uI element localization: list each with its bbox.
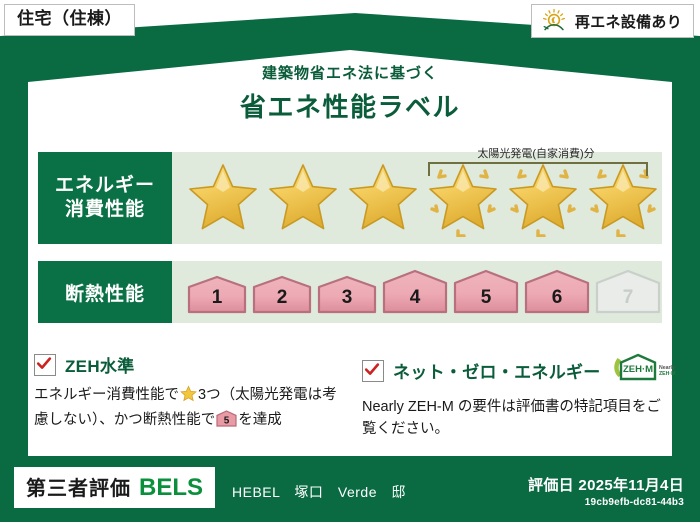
net-zero-title: ネット・ゼロ・エネルギー — [393, 358, 601, 383]
insulation-grade-2: 2 — [251, 275, 313, 315]
property-name: HEBEL 塚口 Verde 邸 — [232, 482, 406, 502]
title-block: 建築物省エネ法に基づく 省エネ性能ラベル — [0, 62, 700, 124]
insulation-row-label: 断熱性能 — [38, 261, 172, 323]
svg-text:5: 5 — [224, 416, 230, 427]
check-icon — [36, 356, 52, 372]
grade-number: 1 — [186, 287, 248, 309]
grade-number: 3 — [316, 287, 378, 309]
energy-label-line1: エネルギー — [55, 174, 155, 198]
bels-badge: 第三者評価 BELS — [14, 467, 215, 508]
zeh-desc-part3: を達成 — [238, 412, 282, 428]
grade-number: 2 — [251, 287, 313, 309]
dwelling-type-tag: 住宅（住棟） — [4, 4, 135, 36]
renewable-badge-label: 再エネ設備あり — [575, 11, 682, 32]
criteria-sections: ZEH水準 エネルギー消費性能で3つ（太陽光発電は考慮しない）、かつ断熱性能で5… — [34, 352, 670, 441]
insulation-performance-row: 断熱性能 1234567 — [38, 261, 662, 323]
evaluation-info: 評価日 2025年11月4日 19cb9efb-dc81-44b3 — [528, 474, 684, 508]
evaluation-id: 19cb9efb-dc81-44b3 — [528, 497, 684, 508]
criteria-net-zero-energy: ネット・ゼロ・エネルギー ZEH·M Nearly ZEH·M Nearly Z… — [362, 352, 668, 441]
zeh-standard-description: エネルギー消費性能で3つ（太陽光発電は考慮しない）、かつ断熱性能で5を達成 — [34, 384, 340, 435]
zeh-standard-checkbox[interactable] — [34, 354, 56, 376]
renewable-equipment-badge: 再エネ設備あり — [531, 4, 694, 38]
zeh-standard-header: ZEH水準 — [34, 352, 340, 377]
solar-annotation-label: 太陽光発電(自家消費)分 — [420, 145, 652, 161]
svg-text:ZEH·M: ZEH·M — [659, 371, 675, 377]
grade-number: 4 — [381, 287, 449, 309]
insulation-grade-3: 3 — [316, 275, 378, 315]
solar-annotation-bracket — [428, 162, 648, 176]
zeh-standard-title: ZEH水準 — [65, 352, 135, 377]
star-icon — [264, 159, 342, 237]
criteria-zeh-standard: ZEH水準 エネルギー消費性能で3つ（太陽光発電は考慮しない）、かつ断熱性能で5… — [34, 352, 340, 441]
check-icon — [364, 362, 380, 378]
title-subtitle: 建築物省エネ法に基づく — [0, 62, 700, 83]
net-zero-header: ネット・ゼロ・エネルギー ZEH·M Nearly ZEH·M — [362, 352, 668, 389]
star-icon — [344, 159, 422, 237]
zeh-desc-part1: エネルギー消費性能で — [34, 387, 179, 403]
sun-icon — [540, 8, 568, 34]
energy-label-line2: 消費性能 — [65, 198, 145, 222]
insulation-grade-6: 6 — [523, 269, 591, 315]
net-zero-checkbox[interactable] — [362, 360, 384, 382]
energy-row-label: エネルギー 消費性能 — [38, 152, 172, 244]
bels-jp-label: 第三者評価 — [26, 472, 131, 501]
insulation-grade-scale: 1234567 — [172, 269, 662, 315]
insulation-grade-7: 7 — [594, 269, 662, 315]
grade-number: 5 — [452, 287, 520, 309]
evaluation-date-label: 評価日 — [528, 477, 574, 494]
insulation-grade-1: 1 — [186, 275, 248, 315]
energy-performance-label: 住宅（住棟） 再エネ設備あり 建築物省エ — [0, 0, 700, 522]
svg-text:ZEH·M: ZEH·M — [623, 364, 653, 375]
star-icon — [184, 159, 262, 237]
net-zero-description: Nearly ZEH-M の要件は評価書の特記項目をご覧ください。 — [362, 396, 668, 441]
zeh-m-logo: ZEH·M Nearly ZEH·M — [614, 352, 676, 389]
insulation-row-value: 1234567 — [172, 261, 662, 323]
house-5-icon: 5 — [216, 410, 237, 434]
footer-bar: 第三者評価 BELS HEBEL 塚口 Verde 邸 評価日 2025年11月… — [0, 458, 700, 522]
insulation-grade-4: 4 — [381, 269, 449, 315]
insulation-grade-5: 5 — [452, 269, 520, 315]
star-icon — [180, 385, 197, 409]
bels-en-label: BELS — [139, 474, 203, 502]
grade-number: 7 — [594, 287, 662, 309]
page-title: 省エネ性能ラベル — [0, 87, 700, 124]
evaluation-date: 評価日 2025年11月4日 — [528, 474, 684, 495]
grade-number: 6 — [523, 287, 591, 309]
evaluation-date-value: 2025年11月4日 — [578, 477, 684, 494]
